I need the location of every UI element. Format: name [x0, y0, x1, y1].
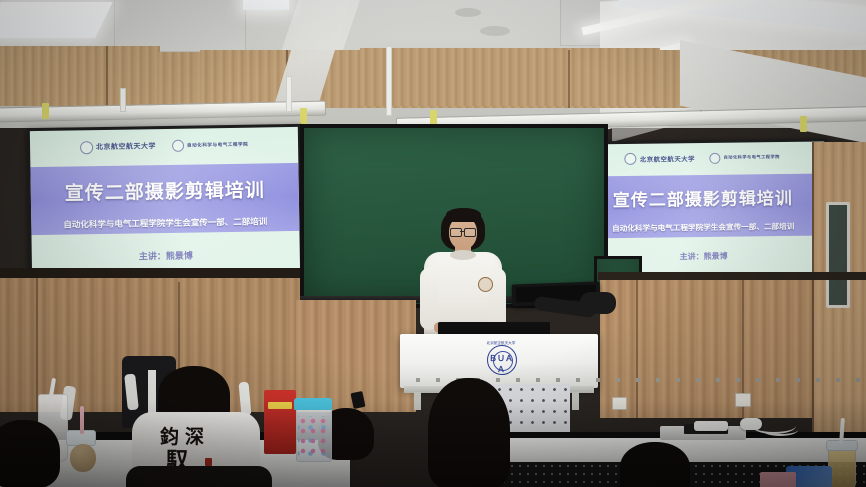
screen-drop-rod [286, 76, 292, 112]
podium-leg [572, 392, 579, 410]
presenter-fringe [446, 208, 481, 222]
cup-straw [80, 406, 84, 434]
wall-outlet[interactable] [612, 397, 627, 410]
wall-outlet[interactable] [735, 393, 751, 407]
podium-leg [414, 392, 421, 410]
podium-emblem-monogram: ＢＵＡＡ [487, 353, 515, 375]
ceiling-light-panel [243, 0, 289, 10]
audience-shoulders [126, 466, 272, 487]
audience-head [0, 420, 60, 487]
wall-panel-seam [636, 278, 638, 418]
power-strip[interactable] [694, 421, 728, 431]
projection-screen-left: 北京航空航天大学 自动化科学与电气工程学院 宣传二部摄影剪辑培训 自动化科学与电… [27, 124, 303, 286]
slide-left: 北京航空航天大学 自动化科学与电气工程学院 宣传二部摄影剪辑培训 自动化科学与电… [30, 127, 300, 283]
presenter-glasses [464, 228, 476, 237]
screen-drop-rod [120, 88, 126, 112]
coconut-drink [70, 444, 96, 472]
glasses-bridge [460, 231, 464, 232]
audience-head-right-2 [620, 442, 690, 487]
snack-box-red [264, 390, 296, 454]
school-name: 自动化科学与电气工程学院 [724, 154, 780, 161]
school-of-automation-logo-icon [172, 140, 184, 152]
snack-box-label [268, 402, 292, 409]
beihang-university-logo-icon [80, 141, 93, 154]
ceiling-vent-icon [480, 26, 510, 36]
presenter-arm-left [420, 268, 438, 330]
school-of-automation-logo-icon [710, 152, 721, 163]
ceiling-tile [114, 0, 246, 52]
housing-bracket [800, 116, 807, 132]
wall-panel-seam [36, 276, 38, 412]
snack-bag-pink [760, 472, 796, 487]
door-window [826, 202, 850, 308]
university-name: 北京航空航天大学 [96, 141, 156, 152]
slide-title: 宣传二部摄影剪辑培训 [581, 184, 825, 212]
monitor-arm-joint [580, 292, 616, 314]
screen-drop-rod [386, 46, 392, 116]
slide-header: 北京航空航天大学 自动化科学与电气工程学院 [580, 148, 824, 169]
chair-post [148, 370, 156, 414]
wall-panel-seam [568, 50, 570, 108]
presenter-glasses [450, 228, 462, 237]
presenter-collar [450, 250, 476, 260]
slide-speaker-line: 主讲：熊景博 [32, 247, 300, 264]
presenter-shirt-logo-icon [478, 277, 493, 292]
school-name: 自动化科学与电气工程学院 [187, 142, 248, 149]
beihang-university-logo-icon [625, 153, 637, 165]
university-logo-group: 北京航空航天大学 [625, 152, 695, 165]
shirt-calligraphy-line1: 鈞深 [160, 428, 210, 447]
power-cable [762, 424, 798, 436]
audience-head-right [428, 378, 510, 487]
podium-emblem-arc-text: 北京航空航天大学 [481, 341, 521, 346]
housing-bracket [300, 108, 307, 124]
wall-panel-seam [106, 46, 108, 108]
wall-shadow-line [598, 272, 866, 280]
wall-shadow-line [0, 268, 300, 278]
presenter-arm-right [488, 268, 506, 330]
candy-jar-lid [294, 398, 332, 410]
ceiling-light-panel [0, 2, 113, 38]
slide-title: 宣传二部摄影剪辑培训 [31, 175, 299, 206]
upper-wood-paneling [0, 46, 160, 106]
calligraphy-seal [205, 458, 212, 466]
ceiling-vent-icon [455, 8, 481, 17]
school-logo-group: 自动化科学与电气工程学院 [710, 152, 780, 164]
candy-jar-contents [298, 416, 328, 456]
housing-bracket [42, 103, 49, 119]
university-logo-group: 北京航空航天大学 [80, 140, 156, 154]
school-logo-group: 自动化科学与电气工程学院 [172, 139, 248, 152]
lecture-hall-photo: 北京航空航天大学 自动化科学与电气工程学院 宣传二部摄影剪辑培训 自动化科学与电… [0, 0, 866, 487]
upper-wood-paneling [360, 48, 660, 106]
university-name: 北京航空航天大学 [640, 154, 695, 164]
slide-header: 北京航空航天大学 自动化科学与电气工程学院 [30, 134, 298, 158]
